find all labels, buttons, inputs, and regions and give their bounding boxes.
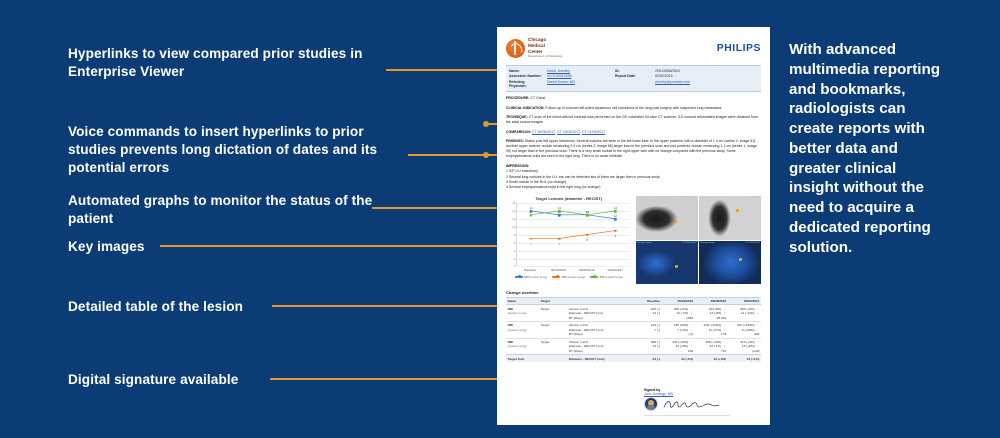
leader-line-5a [272,305,508,307]
signing-physician-link[interactable]: John Jennings, MD [644,392,730,396]
th-date-3: 02/02/2017 [728,297,761,305]
field-label-accession: Accession Number: [509,74,543,78]
section-clinical-indication-text: Follow-up of a known left-sided squamous… [545,106,723,110]
key-image-overlay-right: CT 02/02/2017 [682,197,696,200]
timepoint-2-column: 404 (0%) ↑13 (-9%) ↓-25,942 [695,305,728,322]
section-findings: FINDINGS: Status post left upper lobecto… [506,139,761,159]
legend-swatch-icon [552,276,560,277]
section-comparison: COMPARISON: CT 06/05/2017, CT 03/06/2017… [506,130,761,135]
section-clinical-indication: CLINICAL INDICATION: Follow-up of a know… [506,106,761,111]
lesion-marker-icon [674,220,677,223]
metric-value: 7 (-) [630,328,660,332]
metric-value: 13 (-) [630,344,660,348]
chart-gridline [517,266,630,267]
metric-column: Volume (mm³)Diameter - RECIST (mm)RT (Da… [567,305,628,322]
patient-id-value: 205.20536/3W3 [655,69,735,73]
section-technique-text: CT scan of the chest without contrast wa… [506,115,758,124]
metric-column: Volume (mm³)Diameter - RECIST (mm)RT (Da… [567,322,628,339]
chart-title: Target Lesions (diameter - RECIST) [506,196,632,201]
chart-x-axis: Baseline06/23/201609/28/201602/02/2017 [516,268,630,272]
key-image-overlay-left: Chicago Group [700,242,715,245]
section-findings-key: FINDINGS: [506,139,524,143]
chart-point-label: 13 [586,210,589,214]
section-procedure: PROCEDURE: CT Chest [506,96,761,101]
metric-value: [-4] [663,332,693,336]
chart-point-label: 13 [529,210,532,214]
section-comparison-key: COMPARISON: [506,130,531,134]
patient-name-link[interactable]: Davis, Dorothy [547,69,611,73]
lesion-marker-icon [736,209,739,212]
key-image-overlay-left: Chicago Group [637,197,652,200]
chart-y-tick: 10 [512,225,515,229]
key-images-grid[interactable]: Chicago Group CT 02/02/2017 Chicago Grou… [636,196,762,284]
key-image-axial-fused-ct-2[interactable]: Chicago Group CT 02/02/2017 [699,241,761,284]
lesion-sublabel: (Lesion Lung) [508,328,538,332]
timepoint-2-column: 438 (+19%) ↑13 (-1%) ↓724 [695,338,728,355]
table-row[interactable]: #88(Lesion Lung)TargetVolume (mm³)Diamet… [506,305,761,322]
lesion-marker-icon [675,265,678,268]
slide-canvas: Hyperlinks to view compared prior studie… [0,0,1000,438]
hospital-name: Chicago Medical Center Department of Rad… [528,37,562,58]
baseline-column: 368 (-) 13 (-) [628,338,661,355]
timepoint-1-column: 428 (+6%) ↑13 (-7%) ↓1084 [662,305,695,322]
chart-y-tick: 14 [512,209,515,213]
metric-value: [e43] [729,349,759,353]
prior-study-link-1[interactable]: CT 06/05/2017 [532,130,555,134]
chart-and-images-row: Target Lesions (diameter - RECIST) 02468… [506,196,761,284]
section-procedure-text: CT Chest [530,96,546,100]
change-overtime-title: Change overtime [506,290,761,295]
signature-divider [644,415,730,416]
timepoint-2-column: 238 (+109%) ↑8 (+17%) ↑179 [695,322,728,339]
summary-metric: Diameter - RECIST (mm) [567,355,628,362]
chart-y-tick: 4 [514,249,516,253]
chart-point-label: 9 [615,234,617,238]
chart-legend-item[interactable]: #88 (Lesion Lung) [590,275,623,279]
metric-column: Volume (mm³)Diameter - RECIST (mm)RT (Da… [567,338,628,355]
metric-value: 179 [696,332,726,336]
key-image-overlay-right: CT 02/02/2017 [746,197,760,200]
key-image-overlay-left: Chicago Group [700,197,715,200]
trend-down-icon: ↓ [722,312,726,315]
table-summary-row: Target SumDiameter - RECIST (mm)34 (-)34… [506,355,761,362]
chart-y-tick: 8 [514,233,516,237]
chart-x-tick: 09/28/2016 [573,268,601,272]
summary-name: Target Sum [506,355,539,362]
key-image-overlay-right: CT 02/02/2017 [746,242,760,245]
report-header: Chicago Medical Center Department of Rad… [506,34,761,62]
patient-label-column-1: Name: Accession Number: Referring Physic… [509,69,543,89]
patient-value-column-2: 205.20536/3W3 02/02/2016 dorothy@practic… [655,69,735,89]
metric-value: 238 [663,349,693,353]
lesion-target: Target [539,322,567,339]
timepoint-1-column: 165 (52%) ↑7 (+4%) ↑[-4] [662,322,695,339]
baseline-column: 109 (-) 7 (-) [628,322,661,339]
metric-value: 14 (-) [630,311,660,315]
metric-value: 12 (-14%) ↓ [729,311,759,315]
chart-series-lines [517,203,630,266]
email-link[interactable]: dorothy@practice.com [655,80,735,84]
radiology-report-page[interactable]: Chicago Medical Center Department of Rad… [497,27,770,425]
th-metric [567,297,628,305]
chart-point-label: 7 [530,242,532,246]
trend-down-icon: ↓ [689,312,693,315]
metric-value: 724 [696,349,726,353]
metric-value: -25,942 [696,316,726,320]
section-technique-key: TECHNIQUE: [506,115,528,119]
prior-study-link-3[interactable]: CT 01/05/2017 [582,130,605,134]
callout-voice-commands: Voice commands to insert hyperlinks to p… [68,123,408,177]
legend-label: #88 (Lesion Lung) [524,275,547,279]
lesion-sublabel: (Lesion Lung) [508,311,538,315]
legend-swatch-icon [515,276,523,277]
prior-study-link-2[interactable]: CT 03/06/2017 [557,130,580,134]
callout-detailed-table: Detailed table of the lesion [68,298,298,316]
field-label-referring: Referring Physician: [509,80,543,89]
handwritten-signature [662,398,730,410]
section-procedure-key: PROCEDURE: [506,96,530,100]
impression-item: 4 Several emphysematous bulla in the rig… [506,185,761,190]
chart-point-label: 7 [558,242,560,246]
chart-y-tick: 0 [514,264,516,268]
philips-wordmark: PHILIPS [717,43,761,54]
callout-key-images: Key images [68,238,268,256]
section-clinical-indication-key: CLINICAL INDICATION: [506,106,545,110]
table-row[interactable]: #88(Lesion Lung)TargetVolume (mm³)Diamet… [506,322,761,339]
chart-y-tick: 16 [512,201,515,205]
timepoint-3-column: 311 (+194%) ↑9 (+29%) ↑204 [728,322,761,339]
chart-plot-area: 024681012141614131312778913141314 [516,203,630,266]
chart-y-tick: 2 [514,257,516,261]
timepoint-3-column: 413 (+4%) ↑14 (+6%) ↑[e43] [728,338,761,355]
report-date-value: 02/02/2016 [655,74,735,78]
chart-point-label: 12 [614,214,617,218]
timepoint-3-column: 562 (+3%) ↑12 (-14%) ↓ [728,305,761,322]
th-date-2: 09/28/2016 [695,297,728,305]
field-label-id: ID: [615,69,651,73]
field-label-name: Name: [509,69,543,73]
metric-label: RT (Days) [569,316,627,320]
metric-label: RT (Days) [569,332,627,336]
callout-digital-signature: Digital signature available [68,371,298,389]
summary-timepoint-1: 34 (-2%) [662,355,695,362]
patient-label-column-2: ID: Report Date: [615,69,651,89]
key-image-coronal-chest-ct[interactable]: Chicago Group CT 02/02/2017 [699,196,761,239]
key-image-overlay-left: Chicago Group [637,242,652,245]
th-date-1: 06/23/2016 [662,297,695,305]
summary-baseline: 34 (-) [628,355,661,362]
patient-info-strip: Name: Accession Number: Referring Physic… [506,65,761,92]
summary-timepoint-3: 34 (+1%) [728,355,761,362]
section-technique: TECHNIQUE: CT scan of the chest without … [506,115,761,125]
referring-physician-link[interactable]: Daniel Evans, MD [547,80,611,84]
chart-x-tick: 06/23/2016 [544,268,572,272]
section-findings-text: Status post left upper lobectomy. Severa… [506,139,757,158]
lesion-marker-icon [739,258,742,261]
chart-point-label: 14 [558,206,561,210]
trend-down-icon: ↓ [755,312,759,315]
signature-block[interactable]: Signed by John Jennings, MD [644,388,730,412]
chart-y-tick: 6 [514,241,516,245]
legend-swatch-icon [590,276,598,277]
th-baseline: Baseline [628,297,661,305]
legend-label: #88 (Lesion Lung) [600,275,623,279]
caduceus-logo-icon [506,39,525,58]
legend-label: #88 (Lesion Lung) [562,275,585,279]
chart-legend: #88 (Lesion Lung)#88 (Lesion Lung)#88 (L… [506,275,632,279]
section-impression-title: IMPRESSION: [506,164,761,168]
metric-value: 1084 [663,316,693,320]
key-image-axial-fused-ct[interactable]: Chicago Group CT 02/02/2017 [636,241,698,284]
table-header-row: Name Target Baseline 06/23/2016 09/28/20… [506,297,761,305]
baseline-column: 406 (-) 14 (-) [628,305,661,322]
table-row[interactable]: #88(Lesion Lung)TargetVolume (mm³)Diamet… [506,338,761,355]
accession-number-link[interactable]: 9175-00012456 [547,74,611,78]
right-description-paragraph: With advanced multimedia reporting and b… [789,40,949,257]
chart-point-label: 8 [586,238,588,242]
key-image-axial-chest-ct[interactable]: Chicago Group CT 02/02/2017 [636,196,698,239]
chart-point-label: 14 [614,206,617,210]
table-body: #88(Lesion Lung)TargetVolume (mm³)Diamet… [506,305,761,362]
leader-dot-1 [483,121,489,127]
table-head: Name Target Baseline 06/23/2016 09/28/20… [506,297,761,305]
physician-avatar [644,397,658,411]
callout-automated-graphs: Automated graphs to monitor the status o… [68,192,388,228]
timepoint-1-column: 476 (+24%) ↑14 (+8%) ↑238 [662,338,695,355]
chart-legend-item[interactable]: #88 (Lesion Lung) [552,275,585,279]
th-target: Target [539,297,567,305]
lesion-sublabel: (Lesion Lung) [508,344,538,348]
summary-timepoint-2: 34 (+3%) [695,355,728,362]
hospital-brand: Chicago Medical Center Department of Rad… [506,37,562,58]
metric-label: RT (Days) [569,349,627,353]
th-name: Name [506,297,539,305]
chart-y-tick: 12 [512,217,515,221]
key-image-overlay-right: CT 02/02/2017 [682,242,696,245]
hospital-tagline: Department of Radiology [528,55,562,59]
chart-x-tick: 02/02/2017 [601,268,629,272]
metric-value: 204 [729,332,759,336]
field-label-report-date: Report Date: [615,74,651,78]
callout-hyperlinks-prior-studies: Hyperlinks to view compared prior studie… [68,45,388,81]
lesion-target: Target [539,338,567,355]
lesion-target: Target [539,305,567,322]
change-overtime-table[interactable]: Name Target Baseline 06/23/2016 09/28/20… [506,297,761,362]
impression-list: 1 S/P L/U lobectomy 2 Several lung nodul… [506,169,761,190]
patient-value-column-1: Davis, Dorothy 9175-00012456 Daniel Evan… [547,69,611,89]
chart-x-tick: Baseline [516,268,544,272]
chart-legend-item[interactable]: #88 (Lesion Lung) [515,275,548,279]
leader-line-3a [372,207,510,209]
target-lesions-chart[interactable]: Target Lesions (diameter - RECIST) 02468… [506,196,632,284]
